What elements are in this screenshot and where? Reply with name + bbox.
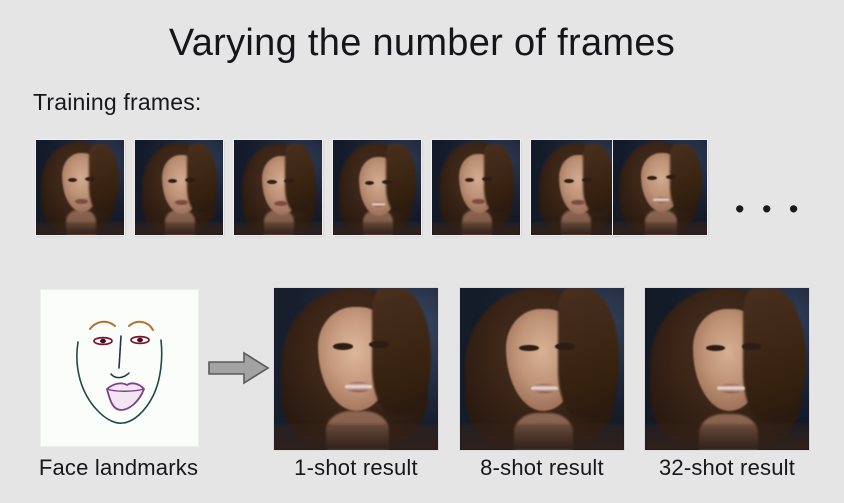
face-landmarks-image xyxy=(41,290,198,446)
result-image-32-shot xyxy=(645,288,809,450)
portrait-graphic xyxy=(274,288,438,450)
portrait-graphic xyxy=(135,140,223,235)
portrait-graphic xyxy=(645,288,809,450)
training-frame-2 xyxy=(135,140,223,235)
training-frame-4 xyxy=(333,140,421,235)
portrait-graphic xyxy=(531,140,619,235)
training-frames-label: Training frames: xyxy=(33,89,202,116)
training-frame-7 xyxy=(613,140,707,235)
result-image-8-shot xyxy=(460,288,624,450)
page-title: Varying the number of frames xyxy=(0,22,844,65)
training-frames-strip xyxy=(36,140,736,238)
frames-ellipsis: • • • xyxy=(735,196,803,223)
result-image-1-shot xyxy=(274,288,438,450)
caption-32-shot: 32-shot result xyxy=(645,455,809,481)
portrait-graphic xyxy=(432,140,520,235)
training-frame-3 xyxy=(234,140,322,235)
face-landmarks-drawing xyxy=(41,290,198,446)
right-arrow-glyph xyxy=(208,350,270,386)
portrait-graphic xyxy=(234,140,322,235)
caption-1-shot: 1-shot result xyxy=(274,455,438,481)
caption-face-landmarks: Face landmarks xyxy=(11,455,226,481)
slide-root: Varying the number of frames Training fr… xyxy=(0,0,844,503)
portrait-graphic xyxy=(613,140,707,235)
portrait-graphic xyxy=(460,288,624,450)
portrait-graphic xyxy=(36,140,124,235)
right-arrow-icon xyxy=(208,350,270,386)
portrait-graphic xyxy=(333,140,421,235)
training-frame-1 xyxy=(36,140,124,235)
caption-8-shot: 8-shot result xyxy=(460,455,624,481)
training-frame-5 xyxy=(432,140,520,235)
training-frame-6 xyxy=(531,140,619,235)
